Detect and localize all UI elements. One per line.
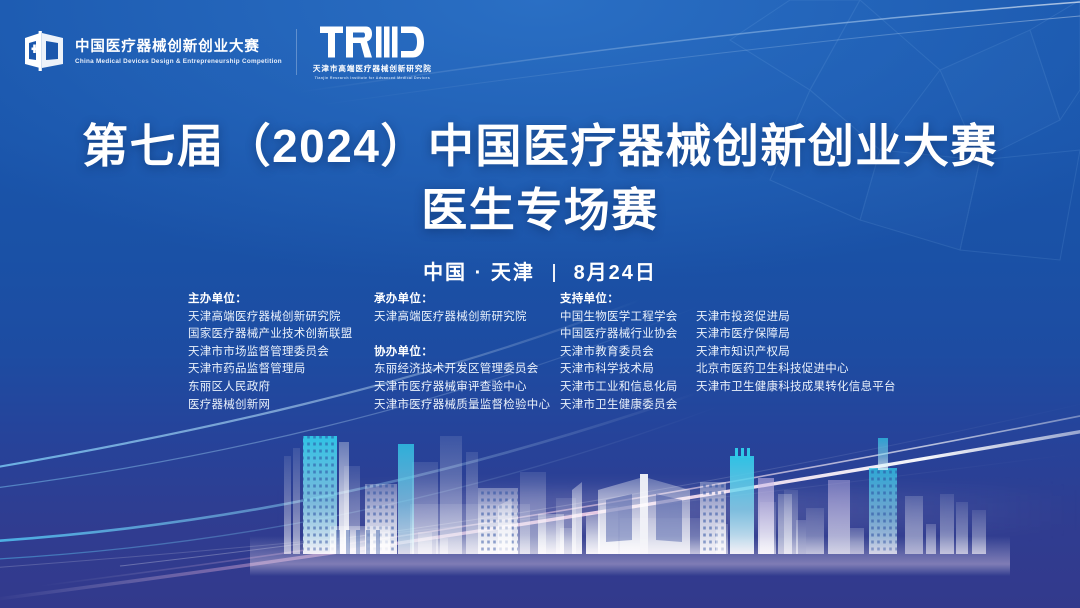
org-name: 天津市科学技术局: [560, 361, 696, 379]
org-name: 天津市知识产权局: [696, 344, 904, 362]
org-name: 天津高端医疗器械创新研究院: [374, 309, 560, 327]
org-name: 天津市市场监督管理委员会: [188, 344, 374, 362]
org-group-heading: 支持单位：: [560, 291, 696, 309]
org-name: 天津市工业和信息化局: [560, 379, 696, 397]
org-name: 天津市药品监督管理局: [188, 361, 374, 379]
org-name: 东丽区人民政府: [188, 379, 374, 397]
event-location: 中国 · 天津: [423, 262, 535, 284]
logo-divider: [296, 29, 297, 75]
title-line-2: 医生专场赛: [0, 182, 1080, 240]
org-name: 天津市医疗器械质量监督检验中心: [374, 397, 560, 415]
trimd-logo-cn: 天津市高端医疗器械创新研究院: [313, 63, 432, 74]
org-column-hosts: 承办单位：天津高端医疗器械创新研究院协办单位：东丽经济技术开发区管理委员会天津市…: [374, 291, 560, 414]
trimd-logo-en: Tianjin Research Institute for Advanced …: [315, 76, 431, 80]
org-group-heading: 承办单位：: [374, 291, 560, 309]
org-group-heading: 协办单位：: [374, 344, 560, 362]
org-name: 医疗器械创新网: [188, 397, 374, 415]
org-name: 天津市教育委员会: [560, 344, 696, 362]
org-group-heading: 主办单位：: [188, 291, 374, 309]
org-name: 东丽经济技术开发区管理委员会: [374, 361, 560, 379]
org-name: 天津市卫生健康科技成果转化信息平台: [696, 379, 904, 397]
skyline-glow: [0, 490, 1080, 530]
org-name: 北京市医药卫生科技促进中心: [696, 361, 904, 379]
cmdc-logo-cn: 中国医疗器械创新创业大赛: [75, 38, 278, 56]
cmdc-logo-en: China Medical Devices Design & Entrepren…: [75, 58, 282, 66]
meta-separator: [553, 264, 555, 282]
poster-title: 第七届（2024）中国医疗器械创新创业大赛 医生专场赛: [0, 118, 1080, 240]
org-column-organizers: 主办单位：天津高端医疗器械创新研究院国家医疗器械产业技术创新联盟天津市市场监督管…: [188, 291, 374, 414]
event-meta: 中国 · 天津 8月24日: [0, 256, 1080, 285]
org-name: 天津市医疗器械审评查验中心: [374, 379, 560, 397]
org-name: 中国医疗器械行业协会: [560, 326, 696, 344]
org-name: 天津市投资促进局: [696, 309, 904, 327]
organizations-block: 主办单位：天津高端医疗器械创新研究院国家医疗器械产业技术创新联盟天津市市场监督管…: [188, 291, 904, 414]
org-name: 中国生物医学工程学会: [560, 309, 696, 327]
header-logos: 中国医疗器械创新创业大赛 China Medical Devices Desig…: [22, 24, 432, 80]
event-date: 8月24日: [574, 262, 657, 284]
cmdc-logo[interactable]: 中国医疗器械创新创业大赛 China Medical Devices Desig…: [22, 31, 278, 73]
org-column-supporters-b: 天津市投资促进局天津市医疗保障局天津市知识产权局北京市医药卫生科技促进中心天津市…: [696, 291, 904, 397]
org-name: 国家医疗器械产业技术创新联盟: [188, 326, 374, 344]
org-name: 天津市卫生健康委员会: [560, 397, 696, 415]
org-column-supporters-a: 支持单位：中国生物医学工程学会中国医疗器械行业协会天津市教育委员会天津市科学技术…: [560, 291, 696, 414]
org-spacer: [374, 326, 560, 344]
event-poster: 中国医疗器械创新创业大赛 China Medical Devices Desig…: [0, 0, 1080, 608]
trimd-logo[interactable]: 天津市高端医疗器械创新研究院 Tianjin Research Institut…: [313, 24, 432, 80]
title-line-1: 第七届（2024）中国医疗器械创新创业大赛: [0, 118, 1080, 176]
org-name: 天津高端医疗器械创新研究院: [188, 309, 374, 327]
open-door-book-icon: [22, 31, 66, 73]
org-name: 天津市医疗保障局: [696, 326, 904, 344]
trimd-wordmark-icon: [320, 24, 424, 60]
